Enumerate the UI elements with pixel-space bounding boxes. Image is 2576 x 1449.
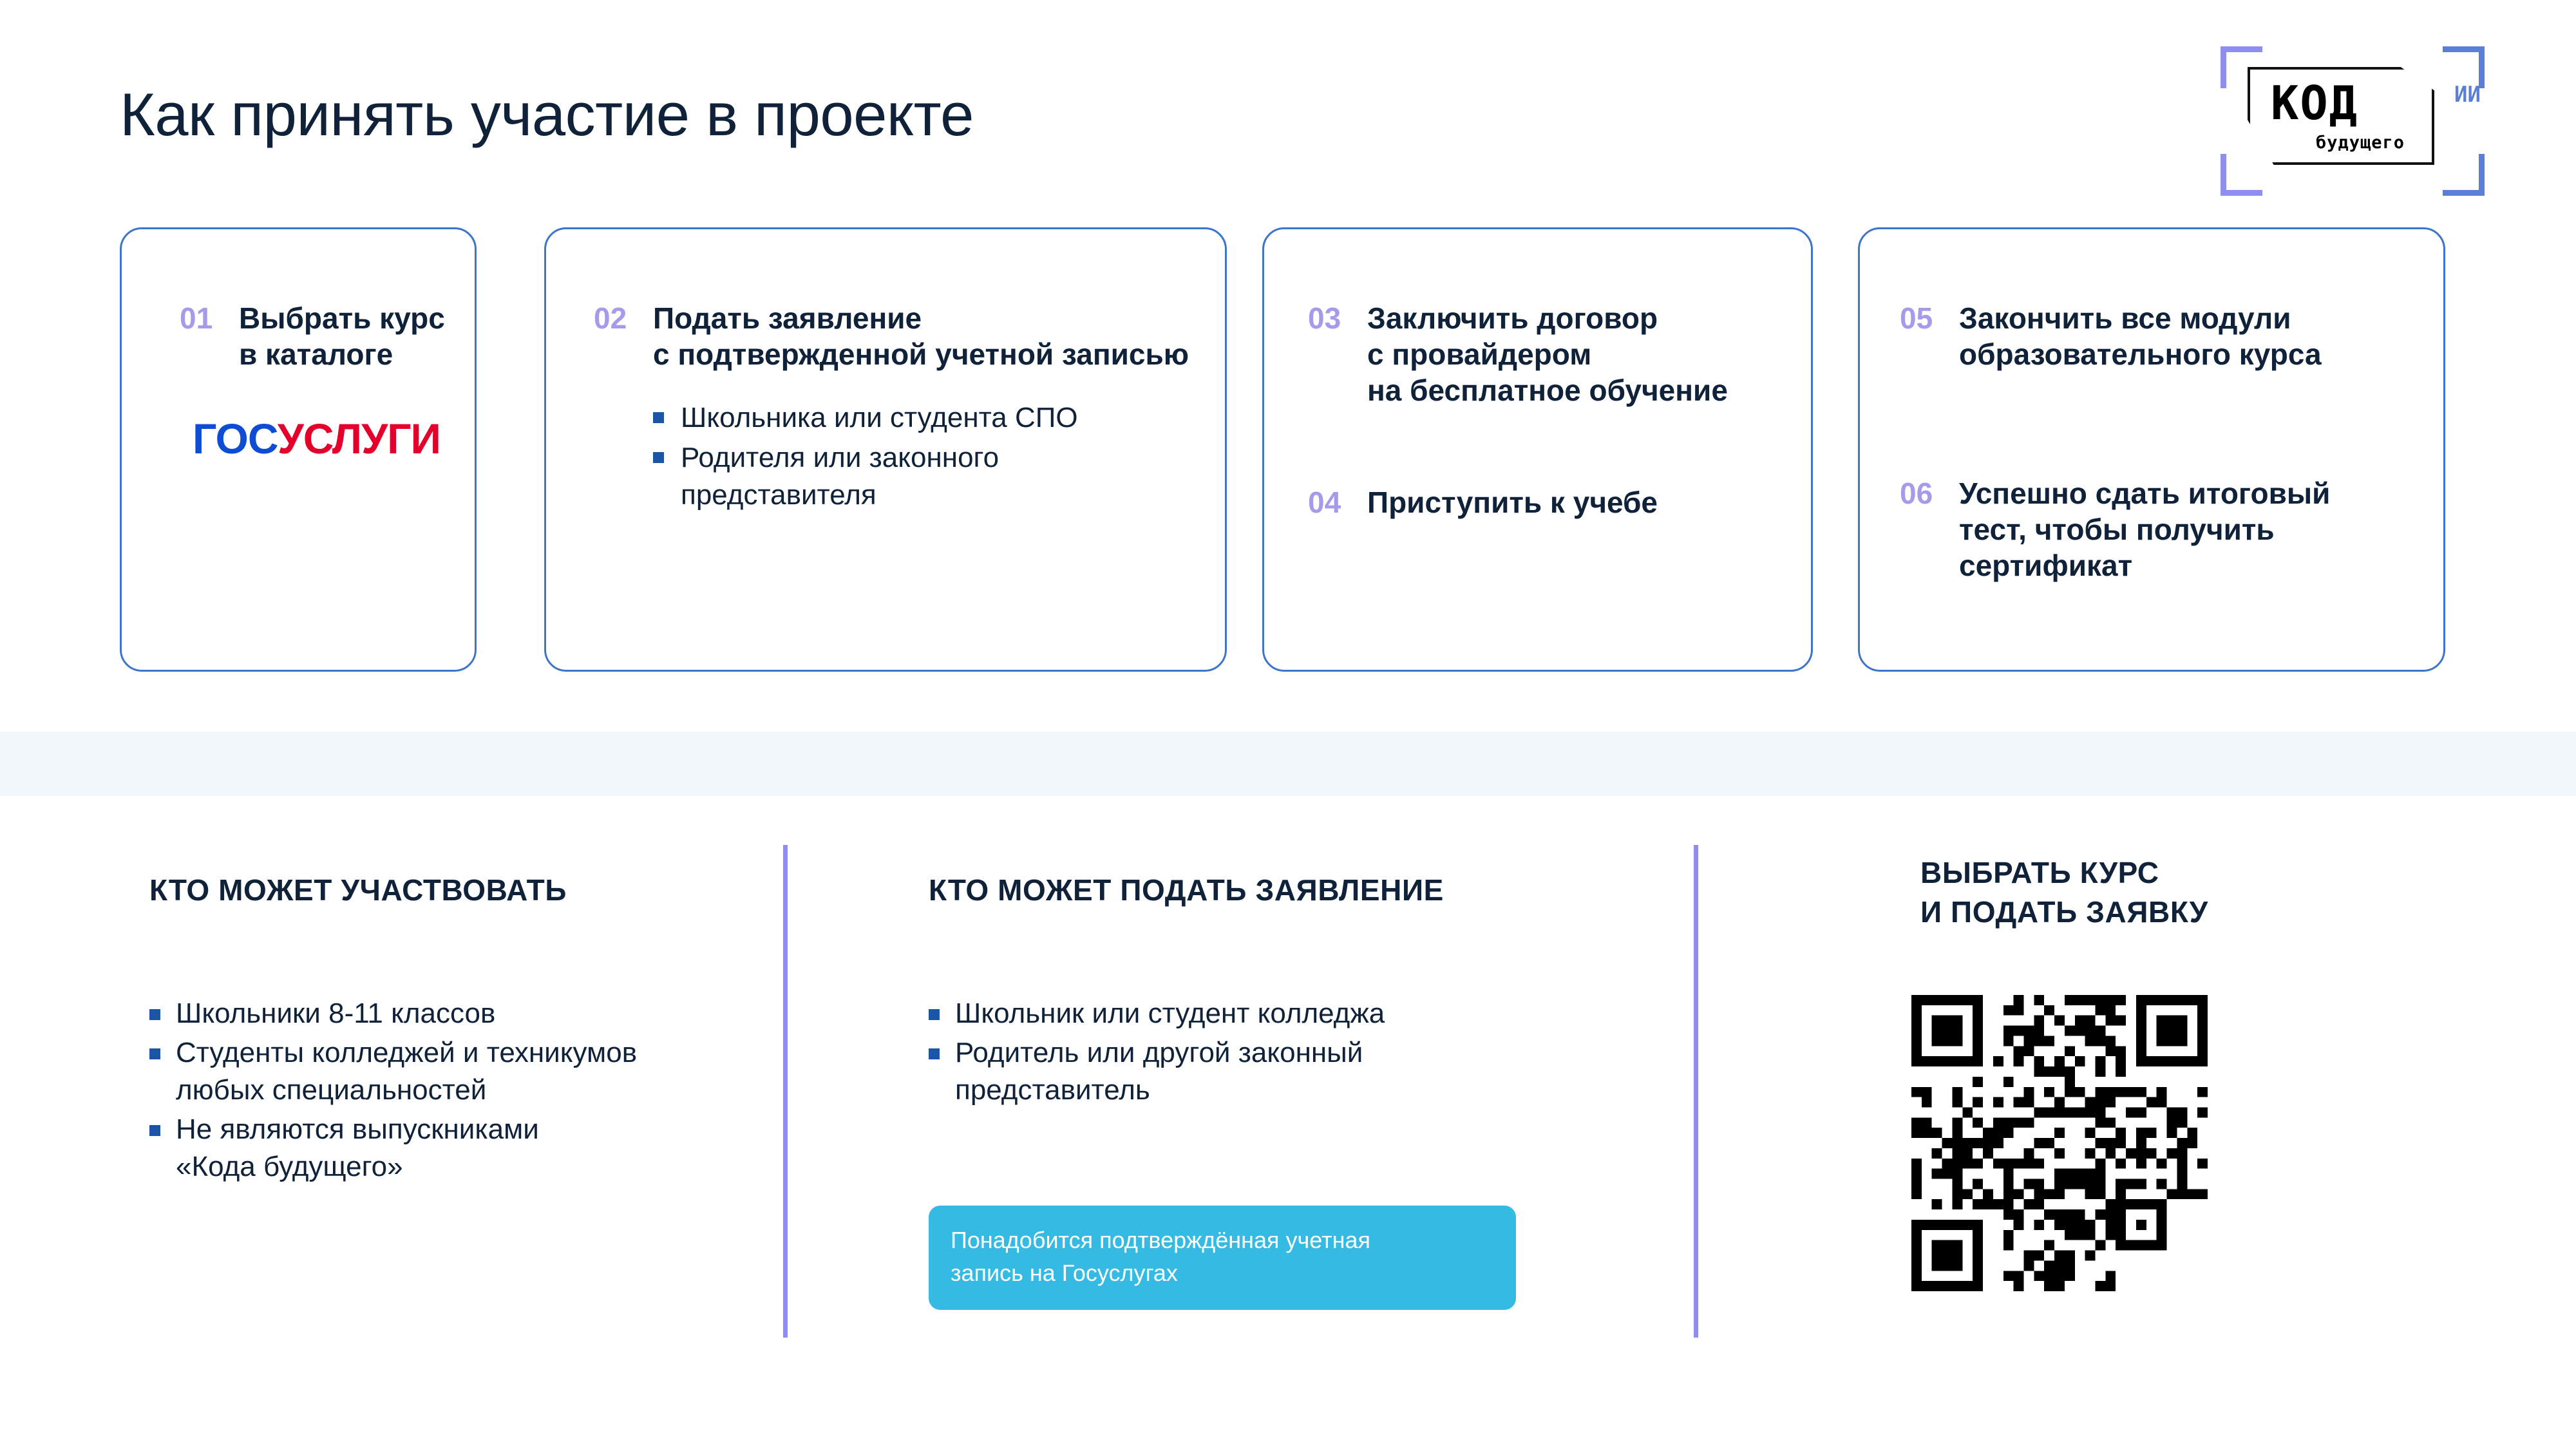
gosuslugi-part-2: УСЛУГИ <box>278 415 440 462</box>
step-title: Заключить договор с провайдером на беспл… <box>1367 300 1804 408</box>
brand-logo: КОД будущего ИИ <box>2221 37 2485 198</box>
choose-course-heading: ВЫБРАТЬ КУРС И ПОДАТЬ ЗАЯВКУ <box>1920 853 2208 931</box>
page-title: Как принять участие в проекте <box>120 81 974 147</box>
step-title: Выбрать курс в каталоге <box>239 300 457 372</box>
bullet-square-icon <box>929 1048 940 1059</box>
notice-badge: Понадобится подтверждённая учетная запис… <box>929 1206 1516 1310</box>
bullet-square-icon <box>929 1009 940 1020</box>
bullet-square-icon <box>149 1048 160 1059</box>
step-number: 03 <box>1308 300 1348 336</box>
list-item-label: Школьника или студента СПО <box>681 399 1078 437</box>
step-05: 05 Закончить все модули образовательного… <box>1900 300 2428 372</box>
list-item-label: Студенты колледжей и техникумов любых сп… <box>176 1034 637 1110</box>
who-can-apply-heading: КТО МОЖЕТ ПОДАТЬ ЗАЯВЛЕНИЕ <box>929 871 1444 910</box>
column-divider-2 <box>1694 845 1698 1338</box>
list-item-label: Родителя или законного представителя <box>681 439 999 514</box>
list-item: Школьник или студент колледжа <box>929 995 1508 1033</box>
list-item-label: Школьник или студент колледжа <box>955 995 1385 1033</box>
list-item: Школьники 8-11 классов <box>149 995 748 1033</box>
step-number: 01 <box>180 300 220 336</box>
section-divider-band <box>0 732 2576 796</box>
logo-ai-tag: ИИ <box>2454 84 2481 106</box>
gosuslugi-part-1: ГОС <box>193 415 278 462</box>
bullet-square-icon <box>653 452 664 463</box>
bullet-square-icon <box>653 412 664 423</box>
step-number: 05 <box>1900 300 1940 336</box>
who-can-participate-list: Школьники 8-11 классов Студенты колледже… <box>149 995 748 1188</box>
slide-root: Как принять участие в проекте КОД будуще… <box>0 0 2576 1449</box>
step-title: Успешно сдать итоговый тест, чтобы получ… <box>1959 475 2428 583</box>
step-number: 04 <box>1308 484 1348 520</box>
step-06: 06 Успешно сдать итоговый тест, чтобы по… <box>1900 475 2428 583</box>
step-bullet-list: Школьника или студента СПО Родителя или … <box>653 399 1212 514</box>
list-item-label: Школьники 8-11 классов <box>176 995 495 1033</box>
step-number: 06 <box>1900 475 1940 511</box>
step-title: Подать заявление с подтвержденной учетно… <box>653 300 1212 372</box>
step-title: Закончить все модули образовательного ку… <box>1959 300 2428 372</box>
list-item-label: Родитель или другой законный представите… <box>955 1034 1363 1110</box>
list-item: Студенты колледжей и техникумов любых сп… <box>149 1034 748 1110</box>
bullet-square-icon <box>149 1125 160 1136</box>
bracket-bottom-left-icon <box>2221 154 2262 196</box>
bracket-bottom-right-icon <box>2443 154 2485 196</box>
list-item: Школьника или студента СПО <box>653 399 1212 437</box>
column-divider-1 <box>783 845 788 1338</box>
step-card-4: 05 Закончить все модули образовательного… <box>1858 227 2445 672</box>
step-number: 02 <box>594 300 634 336</box>
step-title: Приступить к учебе <box>1367 484 1804 520</box>
step-03: 03 Заключить договор с провайдером на бе… <box>1308 300 1804 408</box>
step-card-3: 03 Заключить договор с провайдером на бе… <box>1262 227 1813 672</box>
qr-code[interactable] <box>1911 995 2208 1291</box>
logo-subtitle: будущего <box>2316 134 2405 151</box>
step-01: 01 Выбрать курс в каталоге <box>180 300 457 372</box>
step-card-2: 02 Подать заявление с подтвержденной уче… <box>544 227 1227 672</box>
list-item-label: Не являются выпускниками «Кода будущего» <box>176 1111 539 1186</box>
logo-wordmark: КОД <box>2271 80 2358 126</box>
step-04: 04 Приступить к учебе <box>1308 484 1804 520</box>
list-item: Родитель или другой законный представите… <box>929 1034 1508 1110</box>
step-02: 02 Подать заявление с подтвержденной уче… <box>594 300 1212 516</box>
gosuslugi-logo: ГОСУСЛУГИ <box>193 417 440 460</box>
who-can-participate-heading: КТО МОЖЕТ УЧАСТВОВАТЬ <box>149 871 567 910</box>
bullet-square-icon <box>149 1009 160 1020</box>
list-item: Не являются выпускниками «Кода будущего» <box>149 1111 748 1186</box>
step-card-1: 01 Выбрать курс в каталоге ГОСУСЛУГИ <box>120 227 477 672</box>
who-can-apply-list: Школьник или студент колледжа Родитель и… <box>929 995 1508 1111</box>
list-item: Родителя или законного представителя <box>653 439 1212 514</box>
